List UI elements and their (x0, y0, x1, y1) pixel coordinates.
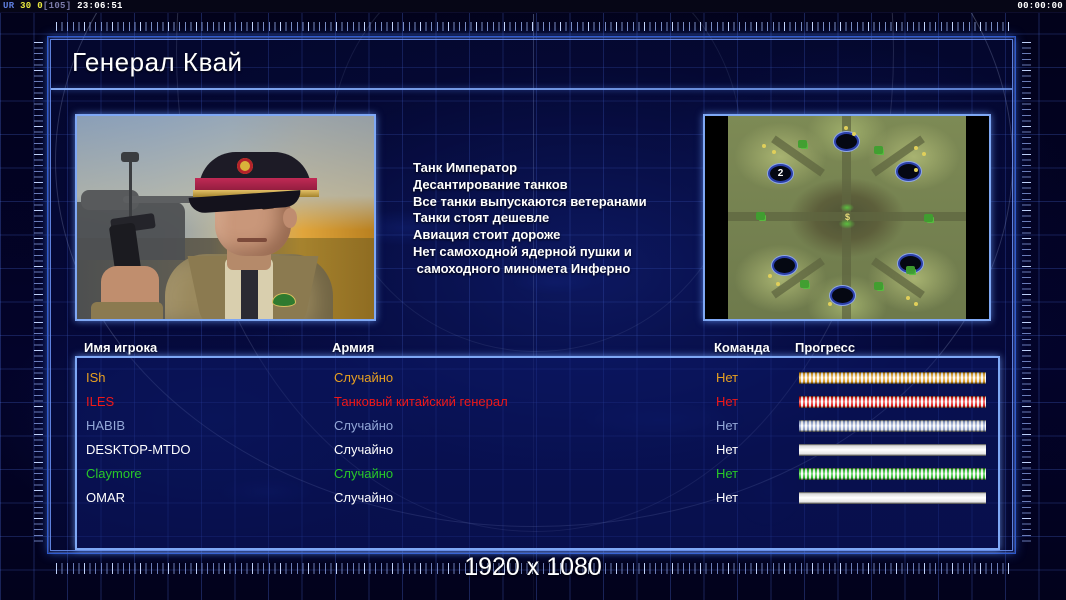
column-header-army: Армия (332, 340, 374, 355)
player-team[interactable]: Нет (716, 394, 738, 409)
map-tree-cluster (924, 214, 933, 222)
progress-fill (799, 492, 986, 504)
table-row[interactable]: ILES Танковый китайский генерал Нет (77, 391, 998, 415)
player-name: ISh (86, 370, 106, 385)
portrait-necktie (241, 264, 258, 321)
map-resource-dot (906, 296, 910, 300)
overlay-time: 23:06:51 (77, 1, 123, 11)
map-spawn-point[interactable] (832, 288, 853, 303)
portrait-pole (129, 156, 132, 218)
map-tree-cluster (906, 266, 915, 274)
resolution-overlay: 1920 x 1080 (0, 553, 1066, 582)
player-list: ISh Случайно Нет ILES Танковый китайский… (75, 356, 1000, 550)
player-progress-bar (799, 468, 986, 480)
map-resource-dot (844, 126, 848, 130)
column-header-team: Команда (714, 340, 770, 355)
portrait-mouth (237, 238, 267, 242)
ability-line: Десантирование танков (413, 177, 693, 194)
player-team[interactable]: Нет (716, 442, 738, 457)
general-ability-list: Танк Император Десантирование танков Все… (413, 160, 693, 278)
title-separator (51, 88, 1012, 90)
map-resource-dot (922, 152, 926, 156)
page-title: Генерал Квай (72, 47, 243, 78)
player-name: OMAR (86, 490, 125, 505)
map-resource-dot (828, 302, 832, 306)
portrait-cap-insignia (237, 158, 253, 174)
game-lobby-screen: UR 30 0[105] 23:06:51 00:00:00 Генерал К… (0, 0, 1066, 600)
map-spawn-point[interactable] (774, 258, 795, 273)
player-army[interactable]: Случайно (334, 466, 393, 481)
player-name: DESKTOP-MTDO (86, 442, 191, 457)
player-army[interactable]: Случайно (334, 442, 393, 457)
map-resource-dot (776, 282, 780, 286)
general-portrait (75, 114, 376, 321)
progress-fill (799, 468, 986, 480)
progress-fill (799, 444, 986, 456)
performance-overlay: UR 30 0[105] 23:06:51 (3, 1, 123, 11)
table-row[interactable]: OMAR Случайно Нет (77, 487, 998, 511)
player-name: Claymore (86, 466, 142, 481)
player-progress-bar (799, 444, 986, 456)
overlay-prefix: UR (3, 1, 14, 11)
map-supply-center: $ (830, 202, 864, 230)
map-resource-dot (914, 146, 918, 150)
portrait-sleeve-cuff (91, 302, 163, 321)
ability-line: Танк Император (413, 160, 693, 177)
map-tree-cluster (800, 280, 809, 288)
ability-line: самоходного миномета Инферно (413, 261, 693, 278)
table-row[interactable]: Claymore Случайно Нет (77, 463, 998, 487)
player-army[interactable]: Случайно (334, 370, 393, 385)
player-progress-bar (799, 420, 986, 432)
map-spawn-point[interactable] (836, 134, 857, 149)
ability-line: Нет самоходной ядерной пушки и (413, 244, 693, 261)
player-team[interactable]: Нет (716, 466, 738, 481)
map-resource-dot (768, 274, 772, 278)
column-header-progress: Прогресс (795, 340, 855, 355)
table-row[interactable]: ISh Случайно Нет (77, 367, 998, 391)
ability-line: Авиация стоит дороже (413, 227, 693, 244)
player-army[interactable]: Случайно (334, 418, 393, 433)
ability-line: Все танки выпускаются ветеранами (413, 194, 693, 211)
portrait-uniform-badge (273, 294, 295, 306)
progress-fill (799, 420, 986, 432)
ruler-right (1022, 42, 1031, 542)
map-resource-dot (914, 168, 918, 172)
map-spawn-point-2[interactable]: 2 (770, 166, 791, 181)
player-name: ILES (86, 394, 114, 409)
map-resource-dot (762, 144, 766, 148)
player-team[interactable]: Нет (716, 370, 738, 385)
overlay-fps: 30 (20, 1, 31, 11)
player-army[interactable]: Танковый китайский генерал (334, 394, 508, 409)
player-progress-bar (799, 492, 986, 504)
player-name: HABIB (86, 418, 125, 433)
overlay-clock: 00:00:00 (1017, 1, 1063, 11)
column-header-player-name: Имя игрока (84, 340, 157, 355)
table-row[interactable]: HABIB Случайно Нет (77, 415, 998, 439)
ability-line: Танки стоят дешевле (413, 210, 693, 227)
map-resource-dot (852, 132, 856, 136)
map-preview[interactable]: $ 2 (703, 114, 991, 321)
spawn-index: 2 (778, 169, 784, 179)
player-table-header: Имя игрока Армия Команда Прогресс (75, 340, 1000, 356)
portrait-ear (283, 208, 297, 228)
player-progress-bar (799, 396, 986, 408)
progress-fill (799, 372, 986, 384)
map-resource-dot (772, 150, 776, 154)
supply-label: $ (845, 212, 850, 222)
player-army[interactable]: Случайно (334, 490, 393, 505)
system-status-bar: UR 30 0[105] 23:06:51 00:00:00 (0, 0, 1066, 13)
player-team[interactable]: Нет (716, 490, 738, 505)
player-team[interactable]: Нет (716, 418, 738, 433)
map-tree-cluster (874, 146, 883, 154)
map-tree-cluster (874, 282, 883, 290)
progress-fill (799, 396, 986, 408)
map-terrain: $ 2 (728, 116, 966, 319)
table-row[interactable]: DESKTOP-MTDO Случайно Нет (77, 439, 998, 463)
map-tree-cluster (756, 212, 765, 220)
ruler-top (56, 22, 1012, 31)
map-tree-cluster (798, 140, 807, 148)
ruler-left (34, 42, 43, 542)
map-resource-dot (914, 302, 918, 306)
portrait-pole-top (121, 152, 139, 162)
player-progress-bar (799, 372, 986, 384)
overlay-bracket: [105] (43, 1, 72, 11)
